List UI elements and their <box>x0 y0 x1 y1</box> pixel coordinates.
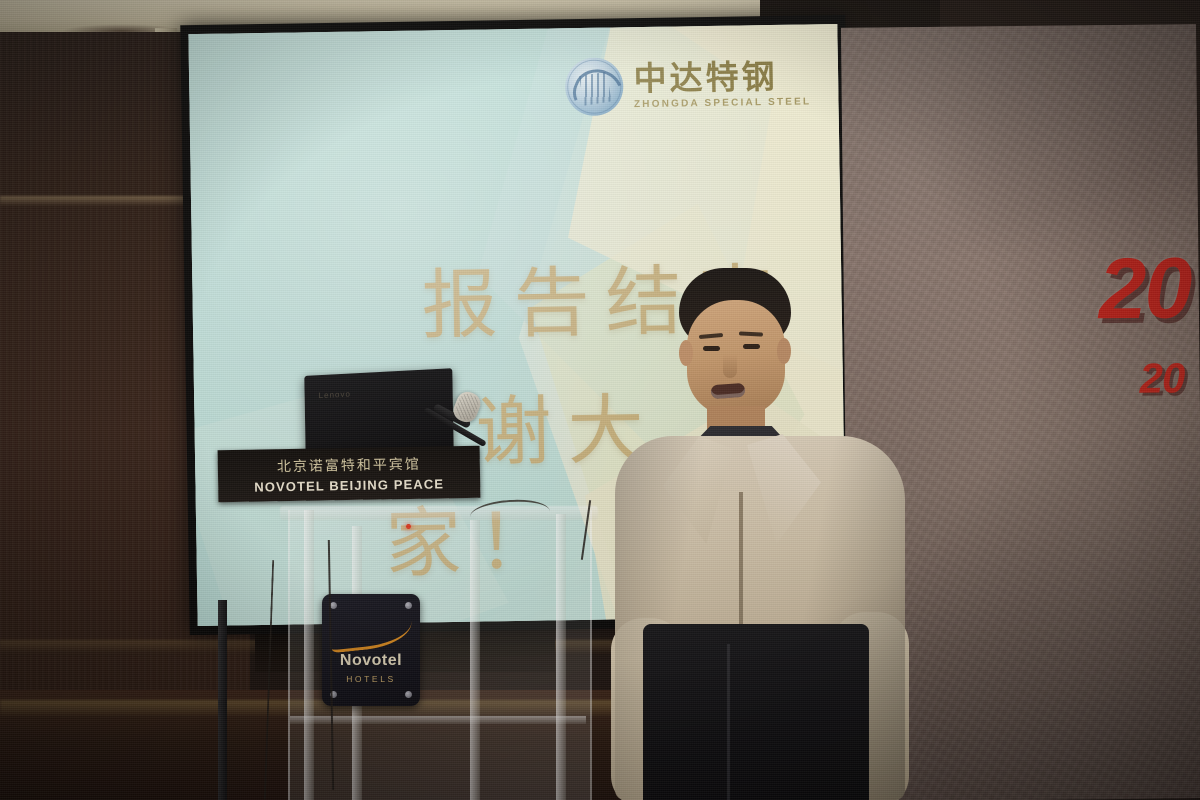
venue-sign: 北京诺富特和平宾馆 NOVOTEL BEIJING PEACE <box>218 446 481 503</box>
zhongda-circular-logo-icon <box>565 57 624 116</box>
plaque-screw <box>330 602 337 609</box>
banner-small-text: 20 <box>1139 354 1184 402</box>
wall-highlight-band <box>0 196 205 206</box>
speaker <box>615 268 905 800</box>
brand-wordmark: 中达特钢 ZHONGDA SPECIAL STEEL <box>633 59 811 110</box>
banner-big-text: 20 <box>1098 239 1191 339</box>
novotel-brand-label: Novotel <box>322 652 420 670</box>
novotel-plaque: Novotel HOTELS <box>322 594 420 706</box>
novotel-sub-label: HOTELS <box>322 674 420 684</box>
speaker-eye-left <box>703 346 720 351</box>
venue-sign-cn: 北京诺富特和平宾馆 <box>277 454 421 477</box>
speaker-ear-left <box>679 340 693 366</box>
brand-name-cn: 中达特钢 <box>633 59 811 95</box>
speaker-trousers <box>643 624 869 800</box>
microphone-stand <box>218 600 227 800</box>
brand-name-en: ZHONGDA SPECIAL STEEL <box>634 97 811 110</box>
podium-shelf <box>290 716 586 724</box>
brand-logo-block: 中达特钢 ZHONGDA SPECIAL STEEL <box>565 54 811 116</box>
photo-scene: 中达特钢 ZHONGDA SPECIAL STEEL 报告结束 谢谢大家！ 20… <box>0 0 1200 800</box>
speaker-mouth <box>711 383 746 399</box>
laptop-brand-label: Lenovo <box>319 389 351 400</box>
speaker-eye-right <box>743 344 760 349</box>
trouser-crease <box>727 644 730 800</box>
speaker-ear-right <box>777 338 791 364</box>
podium-post <box>304 510 314 800</box>
speaker-nose <box>723 354 737 378</box>
podium-post <box>556 514 566 800</box>
podium-post <box>470 520 480 800</box>
novotel-swoosh-icon <box>328 606 414 653</box>
podium: 北京诺富特和平宾馆 NOVOTEL BEIJING PEACE Novotel … <box>280 448 600 798</box>
venue-sign-en: NOVOTEL BEIJING PEACE <box>254 476 444 494</box>
plaque-screw <box>405 691 412 698</box>
red-led-indicator-icon <box>406 524 411 529</box>
